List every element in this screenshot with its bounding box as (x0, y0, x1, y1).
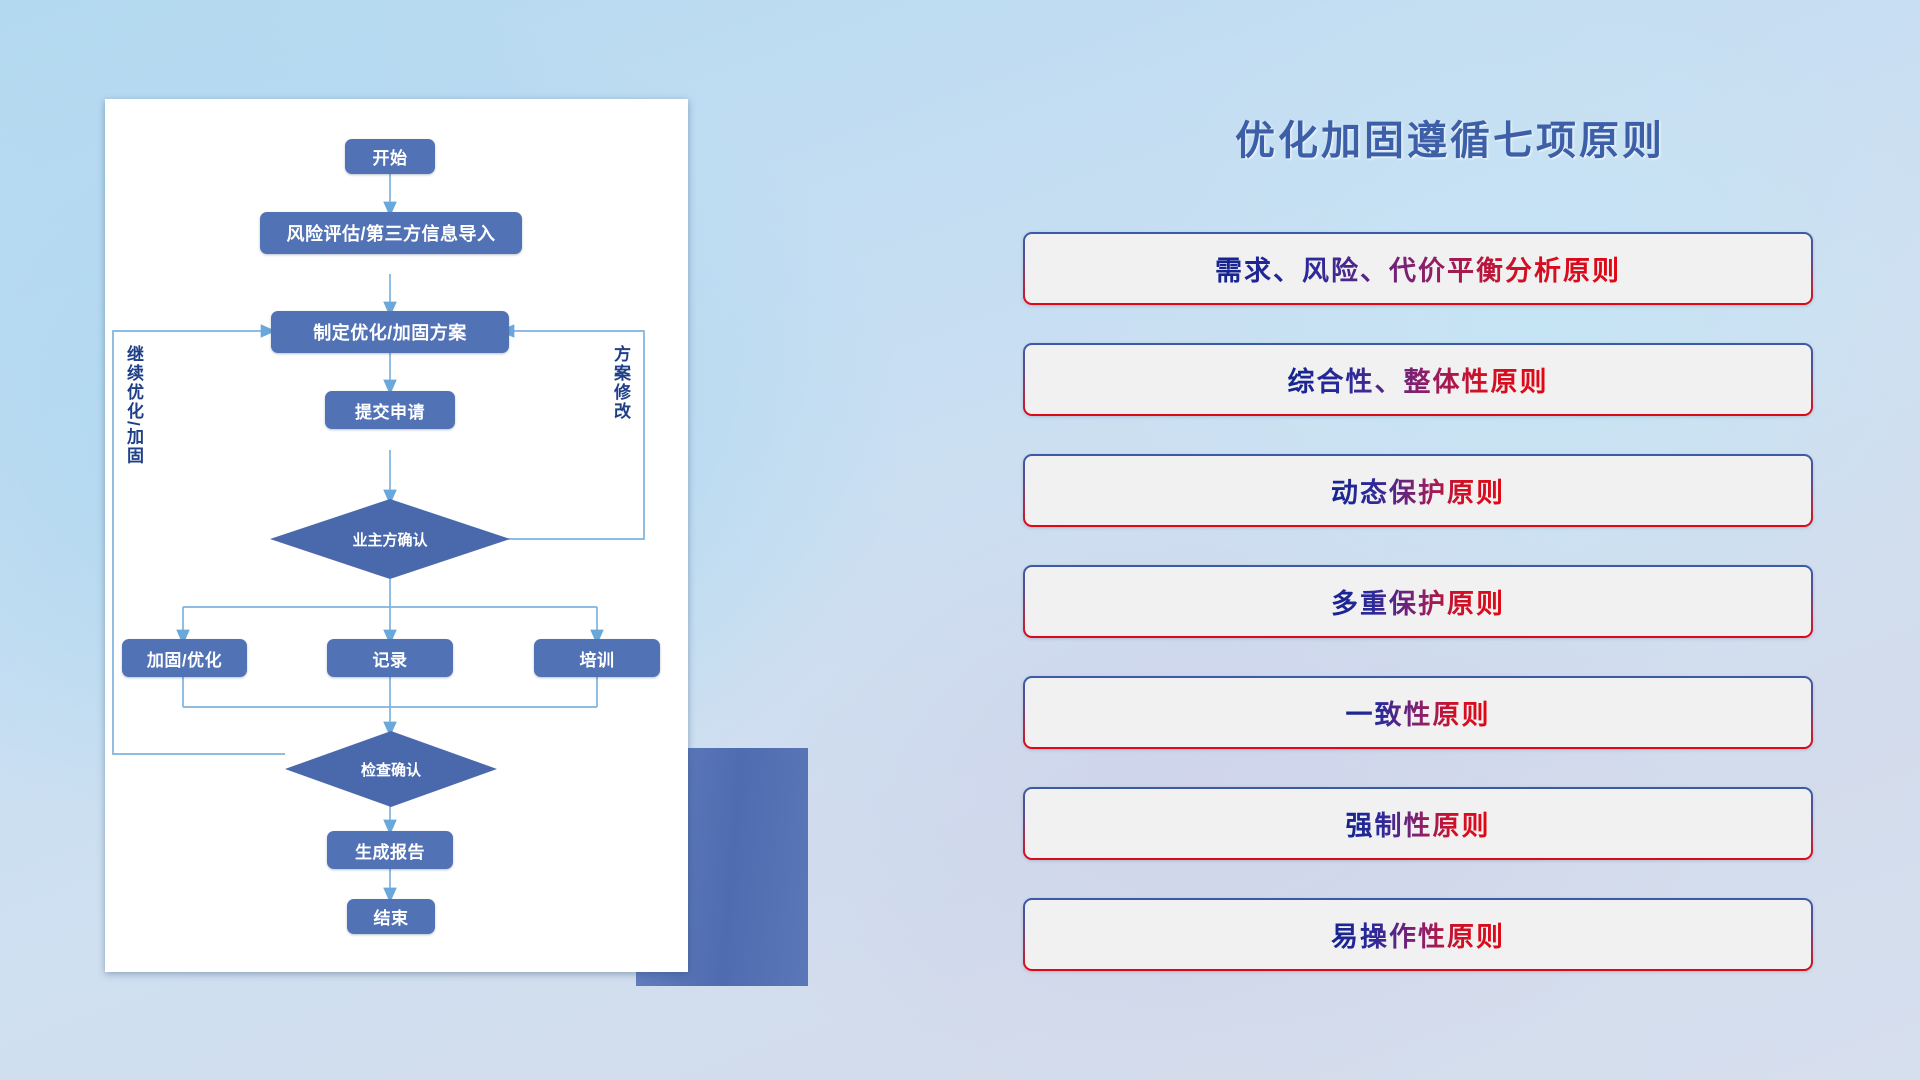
principle-label: 动态保护原则 (1331, 471, 1505, 510)
flow-node-submit-application[interactable]: 提交申请 (325, 391, 455, 429)
flow-node-plan[interactable]: 制定优化/加固方案 (271, 311, 509, 353)
flow-node-generate-report[interactable]: 生成报告 (327, 831, 453, 869)
principle-item-5[interactable]: 一致性原则 (1023, 676, 1813, 749)
flow-node-label: 风险评估/第三方信息导入 (287, 220, 496, 246)
flow-node-label: 制定优化/加固方案 (313, 319, 467, 345)
principle-label: 一致性原则 (1346, 693, 1491, 732)
page-title: 优化加固遵循七项原则 (980, 108, 1920, 166)
flow-node-label: 结束 (374, 904, 409, 929)
principle-item-7[interactable]: 易操作性原则 (1023, 898, 1813, 971)
flow-node-reinforce[interactable]: 加固/优化 (122, 639, 247, 677)
flow-node-label: 检查确认 (361, 759, 421, 780)
flow-node-label: 记录 (373, 646, 408, 671)
principle-item-6[interactable]: 强制性原则 (1023, 787, 1813, 860)
flow-decision-check-confirm[interactable]: 检查确认 (285, 731, 497, 807)
flowchart-card: 开始 风险评估/第三方信息导入 制定优化/加固方案 提交申请 业主方确认 加固/… (105, 99, 688, 972)
flow-node-label: 提交申请 (355, 398, 425, 423)
flow-node-label: 培训 (580, 646, 615, 671)
flow-node-end[interactable]: 结束 (347, 899, 435, 934)
flow-edge-label-continue-optimize: 继续优化/加固 (125, 345, 142, 466)
flow-node-record[interactable]: 记录 (327, 639, 453, 677)
flowchart-panel: 开始 风险评估/第三方信息导入 制定优化/加固方案 提交申请 业主方确认 加固/… (0, 0, 980, 1080)
flow-node-training[interactable]: 培训 (534, 639, 660, 677)
principles-panel: 优化加固遵循七项原则 需求、风险、代价平衡分析原则 综合性、整体性原则 动态保护… (980, 0, 1920, 1080)
principle-item-2[interactable]: 综合性、整体性原则 (1023, 343, 1813, 416)
flow-node-label: 加固/优化 (147, 646, 222, 671)
principle-item-3[interactable]: 动态保护原则 (1023, 454, 1813, 527)
principle-label: 综合性、整体性原则 (1288, 360, 1549, 399)
principle-item-4[interactable]: 多重保护原则 (1023, 565, 1813, 638)
principles-list: 需求、风险、代价平衡分析原则 综合性、整体性原则 动态保护原则 多重保护原则 一… (1023, 232, 1813, 1009)
flow-node-label: 业主方确认 (352, 529, 427, 550)
flow-decision-owner-confirm[interactable]: 业主方确认 (270, 499, 510, 579)
flow-node-label: 生成报告 (355, 838, 425, 863)
principle-label: 需求、风险、代价平衡分析原则 (1215, 249, 1621, 288)
flow-node-start[interactable]: 开始 (345, 139, 435, 174)
flow-edge-label-plan-revision: 方案修改 (612, 345, 629, 421)
principle-label: 强制性原则 (1346, 804, 1491, 843)
principle-label: 易操作性原则 (1331, 915, 1505, 954)
principle-item-1[interactable]: 需求、风险、代价平衡分析原则 (1023, 232, 1813, 305)
flow-node-label: 开始 (373, 144, 408, 169)
flow-node-risk-assessment[interactable]: 风险评估/第三方信息导入 (260, 212, 522, 254)
principle-label: 多重保护原则 (1331, 582, 1505, 621)
